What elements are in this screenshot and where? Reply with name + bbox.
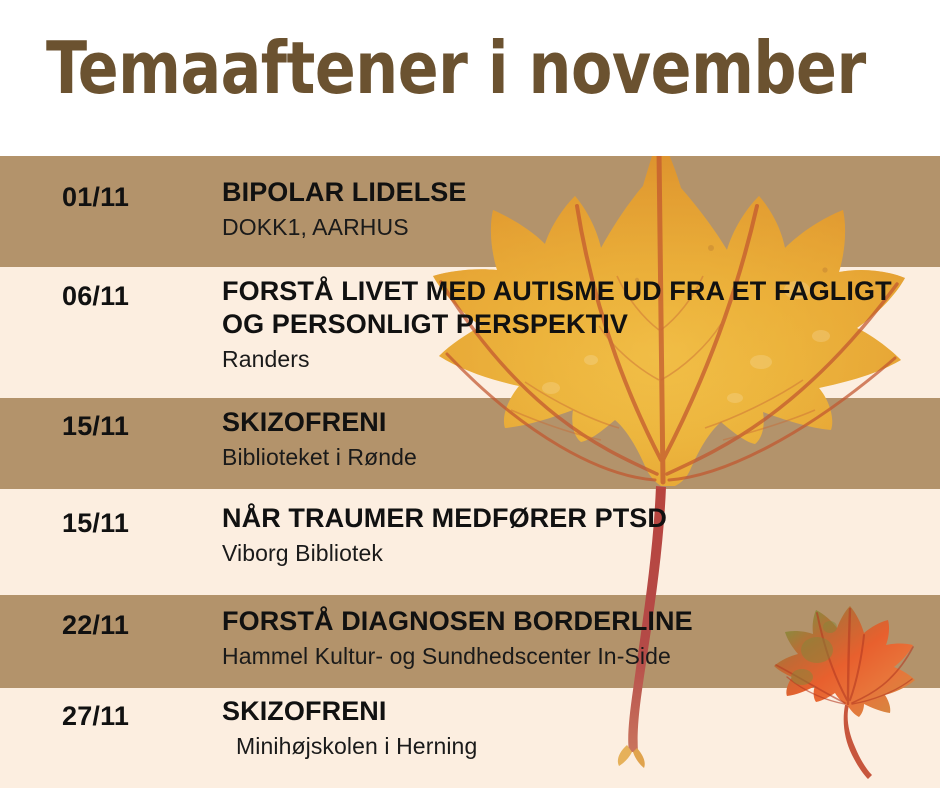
stripe-row [0,398,940,489]
poster-canvas: Temaaftener i november 01/11 BIPOLAR LID… [0,0,940,788]
header-band: Temaaftener i november [0,0,940,156]
stripe-row [0,595,940,688]
page-title: Temaaftener i november [46,26,846,110]
stripe-row [0,267,940,398]
stripe-row [0,156,940,267]
stripe-row [0,688,940,788]
stripe-row [0,489,940,595]
